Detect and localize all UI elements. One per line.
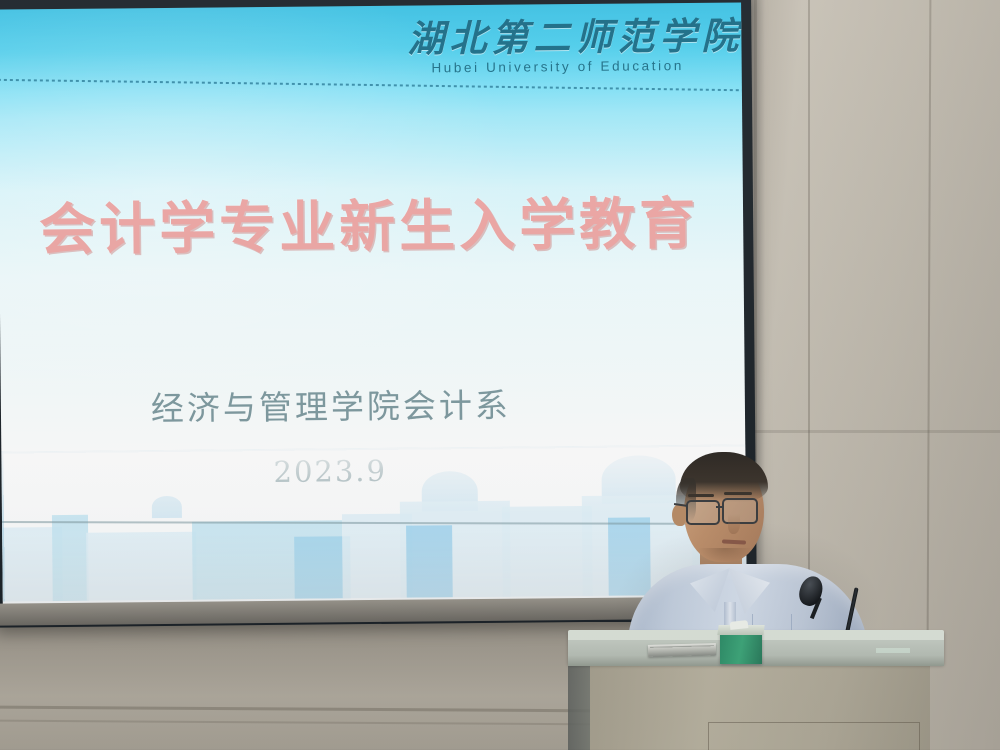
nose (728, 514, 740, 534)
book-pages (650, 645, 714, 654)
podium (568, 630, 944, 750)
podium-side-panel (568, 660, 592, 750)
eyeglasses-lens-left (686, 500, 720, 525)
wall-trim (745, 430, 1000, 433)
podium-front-panel (708, 722, 920, 750)
chin-shadow (698, 548, 752, 562)
eyebrow-left (688, 494, 714, 497)
tissue-box (720, 632, 762, 664)
eyeglasses-bridge (716, 506, 724, 508)
ear (672, 504, 686, 526)
eyebrow-right (724, 492, 752, 495)
tissue-box-label (876, 648, 910, 653)
lecture-hall-photo: 湖北第二师范学院 Hubei University of Education 会… (0, 0, 1000, 750)
book-on-podium (648, 643, 716, 657)
